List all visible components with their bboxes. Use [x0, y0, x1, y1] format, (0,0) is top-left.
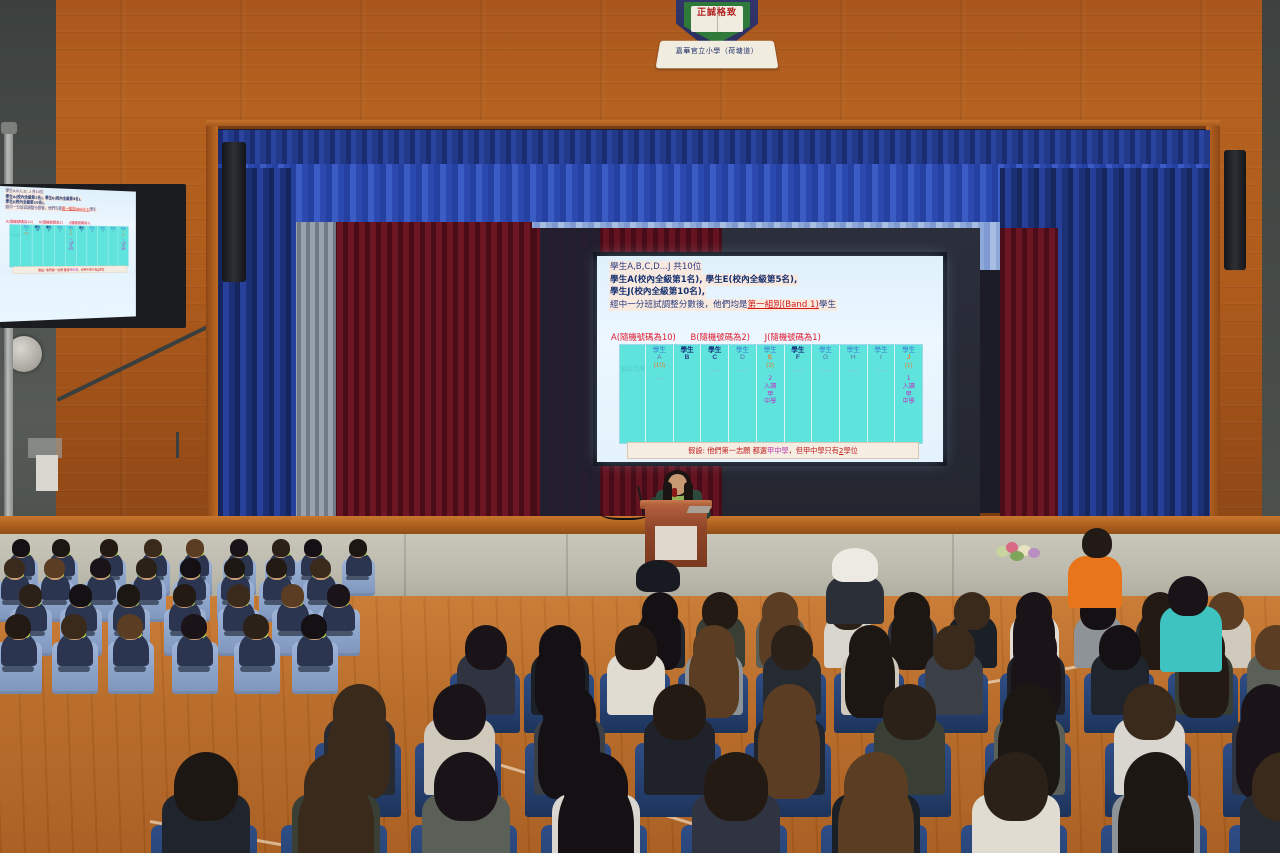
confidence-monitor: 學生A,B,C,D...J 共10位 學生A(校內全級第1名), 學生E(校內全…: [0, 186, 136, 322]
audience-hair: [19, 584, 42, 607]
wall-box: [36, 455, 58, 491]
stage-curtain-maroon-right: [1000, 228, 1058, 518]
table-column-b: 學生B: [674, 345, 702, 443]
audience-hair: [5, 614, 31, 639]
table-column-e: 學生E(2)2入讀甲中學: [757, 345, 785, 443]
slide-text-block-mirror: 學生A,B,C,D...J 共10位 學生A(校內全級第1名), 學生E(校內全…: [5, 188, 132, 213]
pole-cap: [1, 122, 17, 134]
confidence-monitor-content: 學生A,B,C,D...J 共10位 學生A(校內全級第1名), 學生E(校內全…: [0, 186, 62, 245]
table-cell-body: ------: [820, 367, 830, 375]
random-number-a-mirror: A(隨機號碼為10): [6, 219, 33, 224]
table-cell-body: ------: [710, 367, 720, 375]
table-student-letter-mirror: B: [37, 229, 39, 233]
audience-hair: [333, 684, 386, 740]
stage-curtain-maroon-left: [332, 222, 532, 518]
table-column-i-mirror: 學生I------: [108, 226, 118, 266]
table-cell-body-mirror: 2入讀甲中學: [68, 238, 73, 251]
table-student-letter-mirror: D: [59, 229, 61, 233]
table-column-g-mirror: 學生G------: [87, 226, 98, 266]
table-column-e-mirror: 學生E(2)2入讀甲中學: [66, 226, 77, 267]
audience-hair: [844, 752, 909, 820]
audience-hair: [539, 625, 582, 670]
table-column-j-mirror: 學生J(1)1入讀甲中學: [118, 227, 128, 266]
audience-hair: [771, 625, 814, 670]
audience-hair: [1003, 684, 1056, 740]
audience-hair: [117, 584, 140, 607]
table-student-letter-mirror: C: [48, 229, 50, 233]
audience-hair: [4, 558, 25, 578]
audience-hair: [849, 625, 892, 670]
allocation-table: 派位次序 學生A(10)-----學生B學生C------學生D------學生…: [619, 344, 923, 444]
chair-backrest-slot: [324, 631, 353, 636]
audience-hair: [144, 539, 163, 557]
audience-hair: [704, 752, 769, 820]
audience-hair: [1082, 528, 1112, 558]
random-number-j: J(隨機號碼為1): [765, 332, 821, 342]
table-column-i: 學生I------: [868, 345, 896, 443]
table-header-prefix: 學生: [708, 346, 721, 354]
table-header-prefix: 學生: [819, 346, 832, 354]
audience-cap-dark: [636, 560, 680, 592]
audience-hair: [12, 539, 31, 557]
projection-screen: 學生A,B,C,D...J 共10位 學生A(校內全級第1名), 學生E(校內全…: [597, 256, 943, 462]
audience-hair: [434, 752, 499, 820]
table-random-number-mirror: (1): [122, 234, 125, 237]
table-header-prefix: 學生: [764, 346, 777, 354]
loudspeaker-left: [222, 142, 246, 282]
table-header-prefix: 學生: [653, 346, 666, 354]
audience-hair: [174, 752, 239, 820]
audience-hair: [1123, 684, 1176, 740]
audience-hair: [69, 584, 92, 607]
table-cell-body: ------: [793, 367, 803, 375]
presentation-slide: 學生A,B,C,D...J 共10位 學生A(校內全級第1名), 學生E(校內全…: [0, 186, 136, 275]
table-random-number: (1): [905, 362, 913, 370]
table-student-letter: D: [740, 354, 745, 362]
table-cell-body-mirror: ------: [90, 235, 94, 238]
audience-hair: [224, 558, 245, 578]
table-student-letter: G: [823, 354, 828, 362]
audience-hair: [301, 614, 327, 639]
audience-hair: [642, 592, 678, 630]
table-student-letter-mirror: H: [102, 230, 104, 233]
table-random-number: (2): [766, 362, 774, 370]
audience-hair: [615, 625, 658, 670]
random-number-b-mirror: B(隨機號碼為2): [39, 220, 63, 225]
podium-front-panel: [655, 526, 697, 560]
audience-hair: [61, 614, 87, 639]
table-cell-body: 2入讀甲中學: [764, 375, 776, 405]
audience-hair: [349, 539, 368, 557]
table-cell-body: 1入讀甲中學: [902, 375, 914, 405]
table-header-prefix: 學生: [791, 346, 804, 354]
table-cell-body-mirror: -----: [24, 238, 28, 241]
audience-hair: [1168, 576, 1208, 616]
table-student-letter: J: [907, 354, 911, 362]
audience-hair: [304, 539, 323, 557]
table-column-b-mirror: 學生B: [32, 225, 43, 267]
chair-backrest-slot: [2, 666, 34, 672]
allocation-table-mirror: 派位次序 學生A(10)-----學生B學生C------學生D------學生…: [9, 224, 128, 267]
slide-text-block: 學生A,B,C,D...J 共10位 學生A(校內全級第1名), 學生E(校內全…: [609, 261, 934, 311]
flower-arrangement: [990, 542, 1046, 566]
random-number-a: A(隨機號碼為10): [611, 332, 676, 342]
slide-random-numbers: A(隨機號碼為10) B(隨機號碼為2) J(隨機號碼為1): [611, 331, 933, 343]
crest-banner-text: 嘉華官立小學（荷塘道）: [658, 46, 776, 56]
slide-caption: 假設: 他們第一志願 都選甲中學，但甲中學只有2學位: [627, 442, 919, 459]
random-number-j-mirror: J(隨機號碼為1): [69, 220, 91, 225]
table-column-c: 學生C------: [701, 345, 729, 443]
podium-laptop: [687, 506, 712, 513]
chair-backrest-slot: [346, 576, 369, 580]
microphone: [672, 488, 677, 497]
chair-backrest-slot: [58, 666, 90, 672]
table-column-d-mirror: 學生D------: [55, 226, 66, 267]
audience-hair: [117, 614, 143, 639]
chair-backrest-slot: [178, 666, 210, 672]
table-header-prefix: 學生: [847, 346, 860, 354]
table-cell-body: ------: [876, 367, 886, 375]
slide-line-4: 經中一分班試調整分數後，他們均是第一組別(Band 1)學生: [609, 299, 934, 312]
table-student-letter: B: [685, 354, 690, 362]
audience-hair: [702, 592, 738, 630]
audience-hair: [304, 752, 369, 820]
audience-hair: [933, 625, 976, 670]
proscenium-left-trim: [206, 126, 218, 518]
crest-book-characters: 正誠格致: [691, 6, 743, 32]
table-column-h-mirror: 學生H------: [98, 226, 108, 266]
table-cell-body-mirror: ------: [101, 235, 105, 238]
table-header-prefix: 學生: [680, 346, 693, 354]
audience-hair: [653, 684, 706, 740]
table-column-j: 學生J(1)1入讀甲中學: [895, 345, 922, 443]
loudspeaker-right: [1224, 150, 1246, 270]
table-column-f: 學生F------: [785, 345, 813, 443]
table-cell-body-mirror: 1入讀甲中學: [121, 239, 126, 251]
table-random-number: (10): [654, 362, 665, 370]
audience-hair: [100, 539, 119, 557]
audience-hair: [763, 684, 816, 740]
table-student-letter-mirror: F: [81, 230, 83, 233]
table-student-letter: F: [796, 354, 800, 362]
audience-torso: [826, 576, 884, 624]
audience-hair: [173, 584, 196, 607]
table-column-d: 學生D------: [729, 345, 757, 443]
random-number-b: B(隨機號碼為2): [690, 332, 749, 342]
table-header-prefix: 學生: [902, 346, 915, 354]
table-row-label-cell: 派位次序: [620, 345, 646, 443]
table-cell-body: ------: [848, 367, 858, 375]
audience-hair: [1241, 684, 1280, 740]
audience-hair: [954, 592, 990, 630]
table-column-a: 學生A(10)-----: [646, 345, 674, 443]
table-student-letter: C: [712, 354, 717, 362]
table-column-f-mirror: 學生F------: [76, 226, 87, 266]
table-column-g: 學生G------: [812, 345, 840, 443]
table-column-h: 學生H------: [840, 345, 868, 443]
audience-hair: [1099, 625, 1142, 670]
slide-line-2: 學生A(校內全級第1名), 學生E(校內全級第5名),: [609, 274, 934, 287]
table-cell-body: -----: [655, 375, 664, 383]
table-header-prefix: 學生: [736, 346, 749, 354]
audience-hair: [230, 539, 249, 557]
hall-right-wall-panel: [1262, 0, 1280, 540]
chair-backrest-slot: [240, 666, 272, 672]
table-row-label: 派位次序: [620, 366, 645, 374]
table-column-c-mirror: 學生C------: [43, 225, 54, 266]
table-student-letter-mirror: G: [91, 230, 93, 233]
confidence-monitor-slide-clone: 學生A,B,C,D...J 共10位 學生A(校內全級第1名), 學生E(校內全…: [0, 186, 136, 275]
slide-caption-mirror: 假設: 他們第一志願 都選甲中學，但甲中學只有2學位: [13, 266, 127, 274]
audience-hair: [186, 539, 205, 557]
audience-hair: [984, 752, 1049, 820]
chair-backrest-slot: [114, 666, 146, 672]
audience-hair: [693, 625, 736, 670]
audience-hair: [181, 614, 207, 639]
table-cell-body-mirror: ------: [47, 235, 51, 238]
audience-hair: [883, 684, 936, 740]
table-column-a-mirror: 學生A(10)-----: [21, 225, 32, 267]
table-random-number-mirror: (2): [69, 233, 72, 236]
audience-cap-white: [832, 548, 878, 582]
audience-hair: [136, 558, 157, 578]
table-cell-body: ------: [737, 367, 747, 375]
table-row-label-mirror: 派位次序: [10, 234, 20, 237]
audience-hair: [1015, 625, 1058, 670]
table-row-label-cell-mirror: 派位次序: [10, 225, 21, 267]
audience-hair: [894, 592, 930, 630]
table-cell-body-mirror: ------: [58, 235, 62, 238]
audience-hair: [564, 752, 629, 820]
chair-backrest-slot: [42, 600, 68, 605]
table-cell-body-mirror: ------: [80, 235, 84, 238]
audience-hair: [543, 684, 596, 740]
table-student-letter-mirror: I: [113, 230, 114, 233]
assembly-hall-photo: 正誠格致 SMR 嘉華官立小學（荷塘道） 學生A,B,C,D...J 共10位 …: [0, 0, 1280, 853]
audience-hair: [465, 625, 508, 670]
chair-backrest-slot: [298, 666, 330, 672]
audience-hair: [44, 558, 65, 578]
audience-hair: [327, 584, 350, 607]
table-student-letter: E: [768, 354, 772, 362]
slide-line-3: 學生J(校內全級第10名),: [609, 286, 934, 299]
slide-line-1: 學生A,B,C,D...J 共10位: [609, 261, 934, 274]
audience-hair: [52, 539, 71, 557]
audience-hair: [227, 584, 250, 607]
audience-hair: [180, 558, 201, 578]
audience-torso-orange: [1068, 556, 1122, 608]
audience-hair: [310, 558, 331, 578]
audience-hair: [266, 558, 287, 578]
presentation-slide: 學生A,B,C,D...J 共10位 學生A(校內全級第1名), 學生E(校內全…: [597, 256, 943, 462]
school-crest: 正誠格致 SMR 嘉華官立小學（荷塘道）: [658, 0, 776, 80]
audience-hair: [1124, 752, 1189, 820]
table-random-number-mirror: (10): [24, 232, 29, 235]
stage-curtain-gap: [540, 228, 600, 518]
table-student-letter: H: [851, 354, 856, 362]
audience-hair: [90, 558, 111, 578]
audience-hair: [243, 614, 269, 639]
audience-hair: [433, 684, 486, 740]
table-cell-body-mirror: ------: [111, 236, 115, 239]
audience-hair: [272, 539, 291, 557]
table-student-letter: A: [657, 354, 661, 362]
table-header-prefix: 學生: [874, 346, 887, 354]
table-student-letter: I: [880, 354, 882, 362]
audience-hair: [281, 584, 304, 607]
